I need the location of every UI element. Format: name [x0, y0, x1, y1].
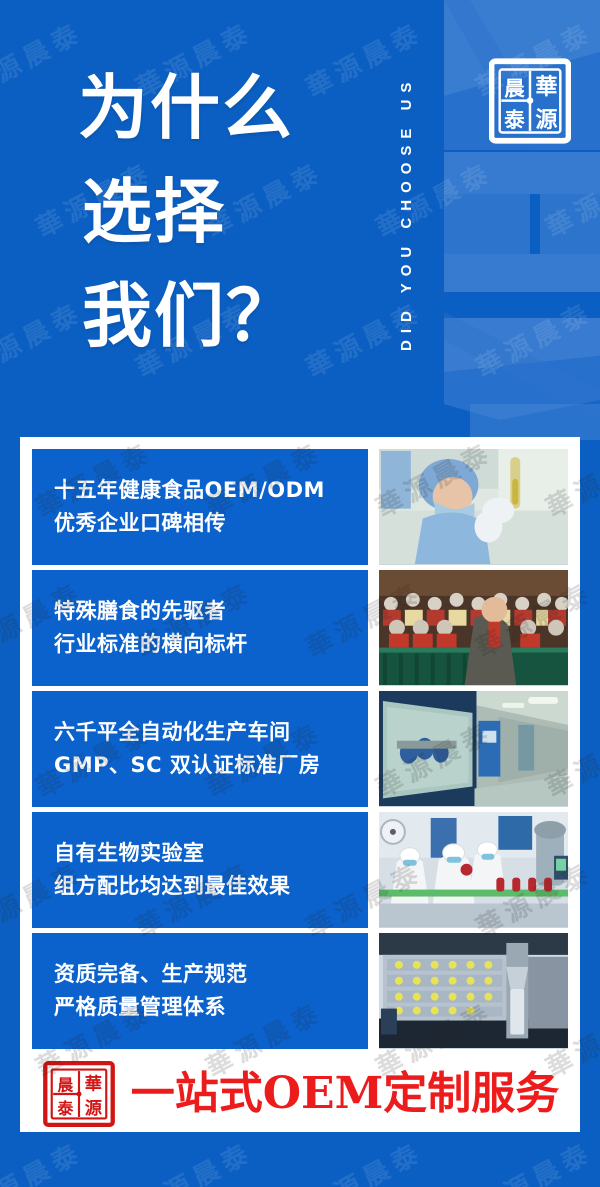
feature-row: 六千平全自动化生产车间 GMP、SC 双认证标准厂房 [32, 691, 568, 807]
headline-line-2: 选择 [78, 160, 378, 264]
watermark-text: 華源晨泰 [299, 1132, 429, 1187]
seal-icon: 晨 泰 華 源 [42, 1061, 116, 1127]
photo-production-line-icon [379, 812, 568, 927]
footer-seal-logo: 晨 泰 華 源 [42, 1061, 116, 1127]
header: 为什么 选择 我们？ DID YOU CHOOSE US 晨 泰 華 源 [0, 0, 600, 437]
footer-banner: 晨 泰 華 源 一站式OEM定制服务 [20, 1055, 580, 1132]
content-frame: 十五年健康食品OEM/ODM 优秀企业口碑相传 [20, 437, 580, 1132]
feature-photo-conference-hall [379, 570, 568, 686]
feature-text-1: 十五年健康食品OEM/ODM 优秀企业口碑相传 [32, 449, 368, 565]
feature-photo-blister-packaging [379, 933, 568, 1049]
poster-root: 为什么 选择 我们？ DID YOU CHOOSE US 晨 泰 華 源 [0, 0, 600, 1187]
feature-text-3: 六千平全自动化生产车间 GMP、SC 双认证标准厂房 [32, 691, 368, 807]
page-title: 为什么 选择 我们？ [78, 56, 378, 368]
feature-line-a: 十五年健康食品OEM/ODM [54, 474, 346, 507]
svg-text:晨: 晨 [57, 1075, 73, 1094]
feature-text-4: 自有生物实验室 组方配比均达到最佳效果 [32, 812, 368, 928]
brand-seal-logo: 晨 泰 華 源 [489, 58, 571, 144]
feature-row: 自有生物实验室 组方配比均达到最佳效果 [32, 812, 568, 928]
feature-photo-cleanroom-corridor [379, 691, 568, 807]
feature-line-b: 优秀企业口碑相传 [54, 507, 346, 540]
feature-photo-production-line [379, 812, 568, 928]
photo-conference-hall-icon [379, 570, 568, 685]
feature-line-b: 行业标准的横向标杆 [54, 628, 346, 661]
feature-row: 十五年健康食品OEM/ODM 优秀企业口碑相传 [32, 449, 568, 565]
vertical-english-caption: DID YOU CHOOSE US [398, 18, 428, 408]
feature-line-a: 资质完备、生产规范 [54, 958, 346, 991]
feature-text-2: 特殊膳食的先驱者 行业标准的横向标杆 [32, 570, 368, 686]
footer-slogan: 一站式OEM定制服务 [116, 1072, 580, 1116]
photo-lab-technician-icon [379, 449, 568, 564]
headline-line-1: 为什么 [78, 56, 378, 160]
feature-text-5: 资质完备、生产规范 严格质量管理体系 [32, 933, 368, 1049]
photo-cleanroom-corridor-icon [379, 691, 568, 806]
svg-text:華: 華 [85, 1074, 102, 1094]
feature-line-a: 自有生物实验室 [54, 837, 346, 870]
svg-text:泰: 泰 [56, 1099, 73, 1118]
feature-line-b: 组方配比均达到最佳效果 [54, 870, 346, 903]
svg-text:晨: 晨 [504, 77, 525, 101]
svg-text:源: 源 [85, 1098, 103, 1119]
feature-line-b: GMP、SC 双认证标准厂房 [54, 749, 346, 782]
feature-photo-lab-technician [379, 449, 568, 565]
feature-row: 资质完备、生产规范 严格质量管理体系 [32, 933, 568, 1049]
feature-line-a: 六千平全自动化生产车间 [54, 716, 346, 749]
svg-text:源: 源 [535, 107, 557, 133]
seal-icon: 晨 泰 華 源 [489, 58, 571, 144]
watermark-text: 華源晨泰 [0, 1132, 89, 1187]
headline-line-3: 我们？ [78, 264, 378, 368]
feature-list: 十五年健康食品OEM/ODM 优秀企业口碑相传 [32, 449, 568, 1049]
feature-line-b: 严格质量管理体系 [54, 991, 346, 1024]
svg-text:華: 華 [535, 74, 557, 100]
watermark-text: 華源晨泰 [129, 1132, 259, 1187]
photo-blister-packaging-icon [379, 933, 568, 1048]
feature-line-a: 特殊膳食的先驱者 [54, 595, 346, 628]
svg-text:泰: 泰 [503, 108, 525, 132]
watermark-text: 華源晨泰 [469, 1132, 599, 1187]
feature-row: 特殊膳食的先驱者 行业标准的横向标杆 [32, 570, 568, 686]
